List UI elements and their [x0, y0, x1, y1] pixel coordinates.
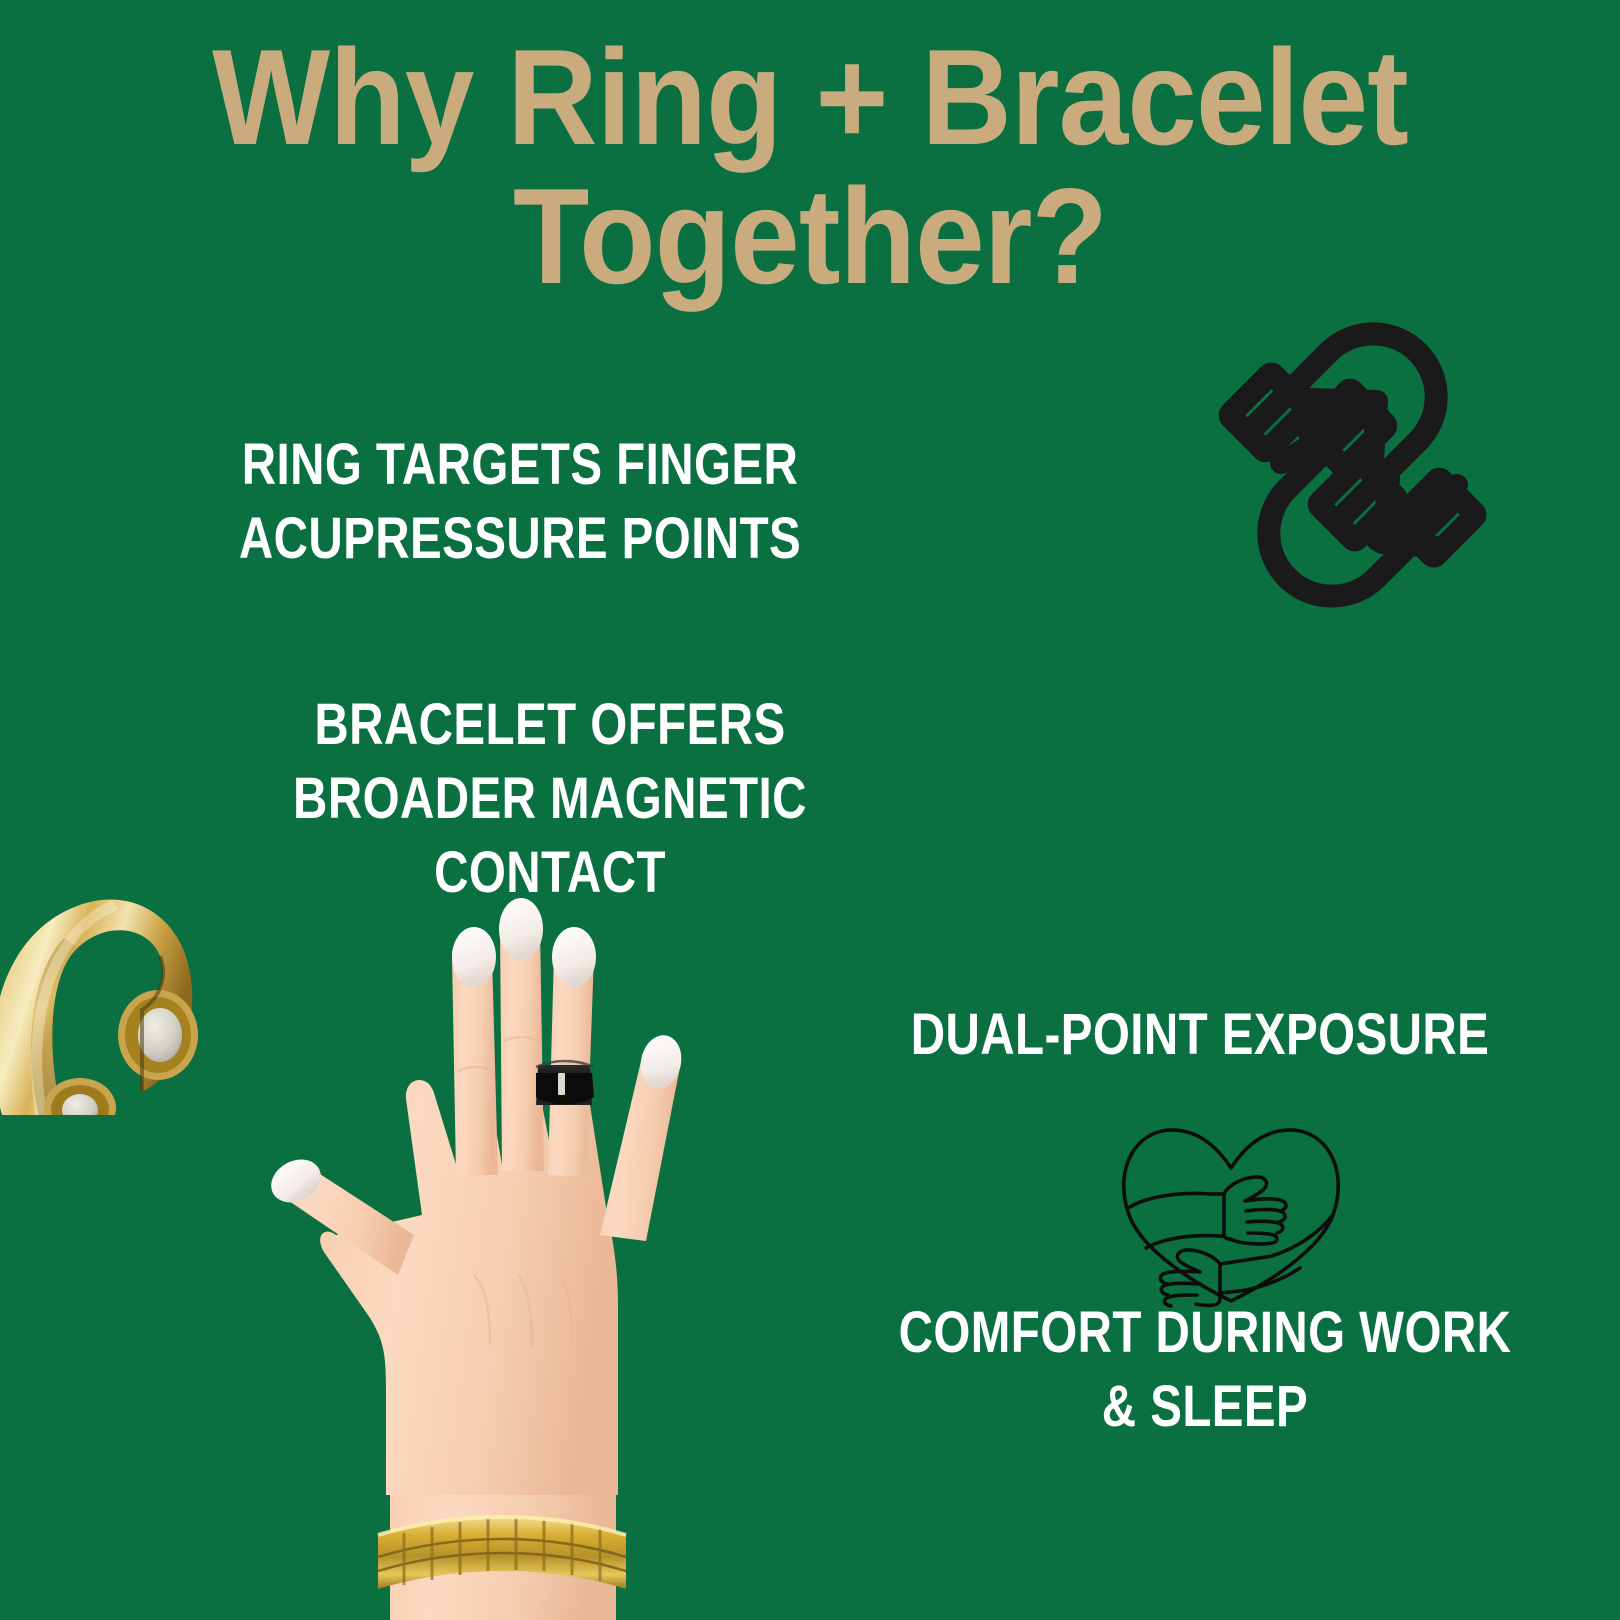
benefit-text-ring-acupressure: Ring targets finger acupressure points [110, 428, 930, 576]
gold-magnetic-ring-image [0, 880, 210, 1115]
infographic-poster: Why Ring + Bracelet Together? [0, 0, 1620, 1620]
benefit-text-comfort: Comfort during work & sleep [881, 1296, 1529, 1444]
magnet-attraction-icon [1105, 235, 1605, 695]
benefit-text-dual-point: Dual-point exposure [880, 998, 1520, 1072]
heart-hug-icon [1100, 1108, 1362, 1308]
hand-with-ring-and-bracelet-image [218, 835, 748, 1620]
